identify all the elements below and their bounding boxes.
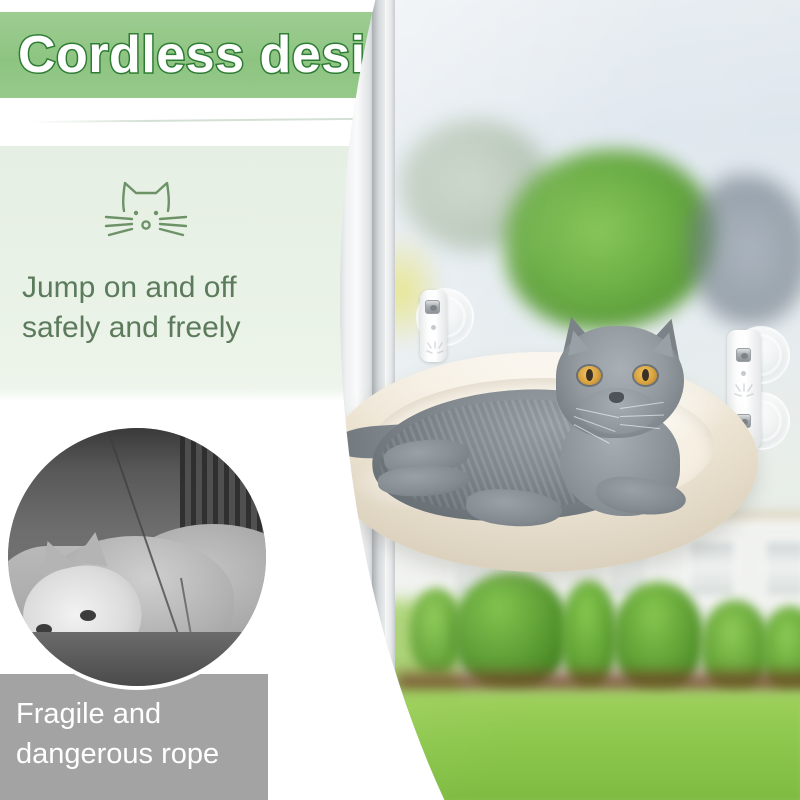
benefit-line-1: Jump on and off bbox=[22, 268, 352, 308]
inset-cat-ear-right bbox=[74, 530, 112, 566]
product-marketing-image: Cordless design Jump on and off safely a… bbox=[0, 0, 800, 800]
benefit-text: Jump on and off safely and freely bbox=[22, 268, 352, 348]
mount-dot-left bbox=[431, 325, 436, 330]
mount-dot-right bbox=[741, 371, 746, 376]
warning-inset-photo bbox=[4, 424, 270, 690]
cat-nose bbox=[609, 392, 624, 403]
inset-scene bbox=[8, 428, 266, 686]
background-tree-right bbox=[690, 175, 800, 325]
mount-screw-left bbox=[425, 300, 440, 314]
cat-pupil-right bbox=[642, 369, 649, 381]
paw-print-icon-right bbox=[732, 382, 756, 400]
warning-text: Fragile and dangerous rope bbox=[16, 694, 316, 774]
warning-line-2: dangerous rope bbox=[16, 734, 316, 774]
cat-pupil-left bbox=[586, 369, 593, 381]
mount-screw-right-top bbox=[736, 348, 751, 362]
warning-line-1: Fragile and bbox=[16, 694, 316, 734]
inset-cat-eye-right bbox=[80, 610, 96, 621]
paw-print-icon-left bbox=[424, 340, 446, 357]
cat-face-line-icon bbox=[98, 175, 194, 253]
house-window-3 bbox=[686, 538, 738, 600]
lawn bbox=[370, 690, 800, 800]
inset-floor bbox=[8, 632, 266, 686]
benefit-line-2: safely and freely bbox=[22, 308, 352, 348]
house-window-4 bbox=[762, 538, 800, 600]
